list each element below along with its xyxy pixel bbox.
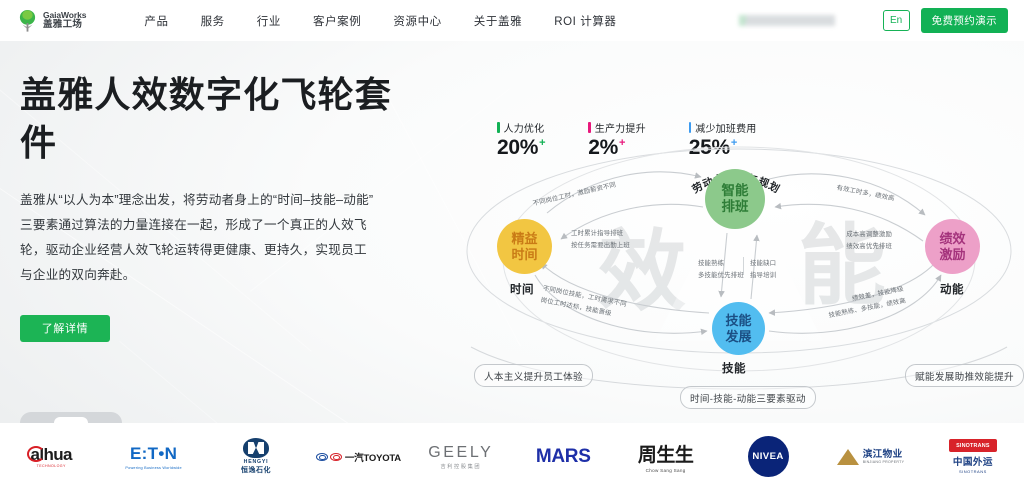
- page-title: 盖雅人效数字化飞轮套件: [20, 71, 420, 167]
- learn-more-button[interactable]: 了解详情: [20, 315, 110, 342]
- dahua-wordmark: alhua TECHNOLOGY: [31, 445, 72, 468]
- header-actions: En 免费预约演示: [739, 0, 1008, 41]
- nav-item-about[interactable]: 关于盖雅: [474, 7, 522, 35]
- client-logo-sinotrans[interactable]: SINOTRANS 中国外运 SINOTRANS: [922, 423, 1024, 490]
- stat-header: 人力优化: [497, 120, 545, 135]
- nav-item-cases[interactable]: 客户案例: [313, 7, 361, 35]
- stat-header: 生产力提升: [588, 120, 646, 135]
- client-logo-nivea[interactable]: NIVEA: [717, 423, 819, 490]
- dahua-subtext: TECHNOLOGY: [31, 464, 72, 468]
- client-logo-eaton[interactable]: E:T•N Powering Business Worldwide: [102, 423, 204, 490]
- mars-wordmark: MARS: [536, 446, 591, 468]
- client-logo-mars[interactable]: MARS: [512, 423, 614, 490]
- nav-item-services[interactable]: 服务: [201, 7, 225, 35]
- client-logo-hengyi[interactable]: HENGYI 恒逸石化: [205, 423, 307, 490]
- geely-wordmark: GEELY 吉利控股集团: [428, 444, 493, 470]
- diagram-tags: 人本主义提升员工体验 时间-技能-动能三要素驱动 赋能发展助推效能提升: [455, 351, 1024, 403]
- connector-label-mid-right-a: 技能缺口: [750, 258, 776, 270]
- node-line-2: 排班: [722, 199, 749, 215]
- language-switch-button[interactable]: En: [883, 10, 910, 31]
- connector-label-mid-right-b: 指导培训: [750, 270, 776, 282]
- tag-employee-experience[interactable]: 人本主义提升员工体验: [474, 364, 593, 387]
- connector-label-mid-left-b: 多技能优先排班: [698, 270, 744, 282]
- dahua-ring-icon: [27, 446, 45, 462]
- node-lean-time[interactable]: 精益 时间: [497, 219, 552, 274]
- node-caption-momentum: 动能: [940, 281, 964, 297]
- hengyi-emblem-icon: [243, 438, 269, 458]
- binjiang-text-wrap: 滨江物业 BINJIANG PROPERTY: [863, 449, 905, 464]
- sinotrans-text-cn: 中国外运: [949, 454, 997, 468]
- tag-three-factor-drive[interactable]: 时间-技能-动能三要素驱动: [680, 386, 816, 409]
- sinotrans-wordmark: SINOTRANS 中国外运 SINOTRANS: [949, 439, 997, 474]
- carousel-scroll-handle[interactable]: [20, 412, 122, 423]
- binjiang-wordmark: 滨江物业 BINJIANG PROPERTY: [837, 446, 905, 468]
- client-logo-binjiang-property[interactable]: 滨江物业 BINJIANG PROPERTY: [819, 423, 921, 490]
- phone-number-redacted: [739, 15, 835, 26]
- geely-text-cn: 吉利控股集团: [428, 463, 493, 470]
- node-line-2: 激励: [939, 247, 965, 262]
- node-line-1: 精益: [511, 231, 537, 246]
- brand-logo[interactable]: GaiaWorks 盖雅工场: [18, 9, 86, 33]
- node-smart-scheduling[interactable]: 智能 排班: [705, 169, 765, 229]
- client-logo-geely[interactable]: GEELY 吉利控股集团: [410, 423, 512, 490]
- stat-label: 生产力提升: [595, 120, 646, 135]
- tag-enablement-growth[interactable]: 赋能发展助推效能提升: [905, 364, 1024, 387]
- tree-logo-icon: [18, 9, 37, 33]
- stat-header: 减少加班费用: [689, 120, 757, 135]
- connector-label-right: 成本高调整激励 绩效高优先排班: [810, 229, 892, 253]
- toyota-text: 一汽TOYOTA: [345, 450, 401, 464]
- site-header: GaiaWorks 盖雅工场 产品 服务 行业 客户案例 资源中心 关于盖雅 R…: [0, 0, 1024, 41]
- chowsangsang-text-en: Chow Sang Sang: [638, 468, 694, 473]
- eaton-text: E:T•N: [125, 444, 181, 464]
- hero-copy: 盖雅人效数字化飞轮套件 盖雅从“以人为本”理念出发，将劳动者身上的“时间–技能–…: [20, 71, 420, 342]
- eaton-wordmark: E:T•N Powering Business Worldwide: [125, 444, 181, 470]
- chowsangsang-text-cn: 周生生: [638, 440, 694, 467]
- toyota-wordmark: 一汽TOYOTA: [316, 450, 401, 464]
- faw-ellipse-icon: [316, 453, 328, 461]
- binjiang-emblem-icon: [837, 446, 859, 468]
- book-demo-button[interactable]: 免费预约演示: [921, 8, 1008, 33]
- client-logo-strip: alhua TECHNOLOGY E:T•N Powering Business…: [0, 423, 1024, 490]
- node-skill-development[interactable]: 技能 发展: [712, 302, 765, 355]
- hengyi-text-cn: 恒逸石化: [241, 465, 271, 475]
- hengyi-wordmark: HENGYI 恒逸石化: [241, 438, 271, 475]
- connector-label-right-a: 成本高调整激励: [810, 229, 892, 241]
- main-nav: 产品 服务 行业 客户案例 资源中心 关于盖雅 ROI 计算器: [144, 7, 648, 35]
- connector-label-mid-left: 技能熟练 多技能优先排班: [698, 258, 744, 282]
- decorative-streak: [119, 341, 319, 423]
- nav-item-roi-calculator[interactable]: ROI 计算器: [554, 7, 616, 35]
- stat-accent-bar: [497, 122, 500, 133]
- client-logo-faw-toyota[interactable]: 一汽TOYOTA: [307, 423, 409, 490]
- toyota-ellipse-icon: [330, 453, 342, 461]
- node-line-2: 时间: [511, 247, 537, 262]
- sinotrans-text-en: SINOTRANS: [949, 469, 997, 474]
- stat-accent-bar: [689, 122, 692, 133]
- stat-label: 人力优化: [504, 120, 545, 135]
- connector-label-left-a: 工时累计指导排班: [571, 228, 630, 240]
- sinotrans-band: SINOTRANS: [949, 439, 997, 452]
- connector-label-left-b: 按任务需要出勤上班: [571, 240, 630, 252]
- chowsangsang-wordmark: 周生生 Chow Sang Sang: [638, 440, 694, 473]
- node-line-1: 智能: [722, 183, 749, 199]
- node-performance-incentive[interactable]: 绩效 激励: [925, 219, 980, 274]
- binjiang-text-cn: 滨江物业: [863, 449, 905, 460]
- nav-item-industries[interactable]: 行业: [257, 7, 281, 35]
- connector-label-left: 工时累计指导排班 按任务需要出勤上班: [571, 228, 630, 252]
- eaton-tagline: Powering Business Worldwide: [125, 466, 181, 470]
- binjiang-text-en: BINJIANG PROPERTY: [863, 460, 905, 464]
- client-logo-chow-sang-sang[interactable]: 周生生 Chow Sang Sang: [614, 423, 716, 490]
- stat-plus-sign: +: [619, 137, 625, 149]
- hero-description: 盖雅从“以人为本”理念出发，将劳动者身上的“时间–技能–动能”三要素通过算法的力…: [20, 188, 378, 289]
- nav-item-products[interactable]: 产品: [144, 7, 168, 35]
- client-logo-dahua[interactable]: alhua TECHNOLOGY: [0, 423, 102, 490]
- nav-item-resources[interactable]: 资源中心: [393, 7, 441, 35]
- node-line-1: 绩效: [939, 231, 965, 246]
- node-line-1: 技能: [725, 313, 751, 328]
- brand-name-cn: 盖雅工场: [43, 20, 86, 30]
- stat-accent-bar: [588, 122, 591, 133]
- connector-label-right-b: 绩效高优先排班: [810, 241, 892, 253]
- node-caption-time: 时间: [510, 281, 534, 297]
- stat-plus-sign: +: [539, 137, 545, 149]
- geely-text-en: GEELY: [428, 444, 493, 462]
- connector-label-mid-left-a: 技能熟练: [698, 258, 744, 270]
- hero-section: 盖雅人效数字化飞轮套件 盖雅从“以人为本”理念出发，将劳动者身上的“时间–技能–…: [0, 41, 1024, 423]
- stat-label: 减少加班费用: [695, 120, 756, 135]
- connector-label-mid-right: 技能缺口 指导培训: [750, 258, 776, 282]
- nivea-wordmark: NIVEA: [748, 436, 789, 477]
- brand-text: GaiaWorks 盖雅工场: [43, 11, 86, 30]
- node-line-2: 发展: [725, 329, 751, 344]
